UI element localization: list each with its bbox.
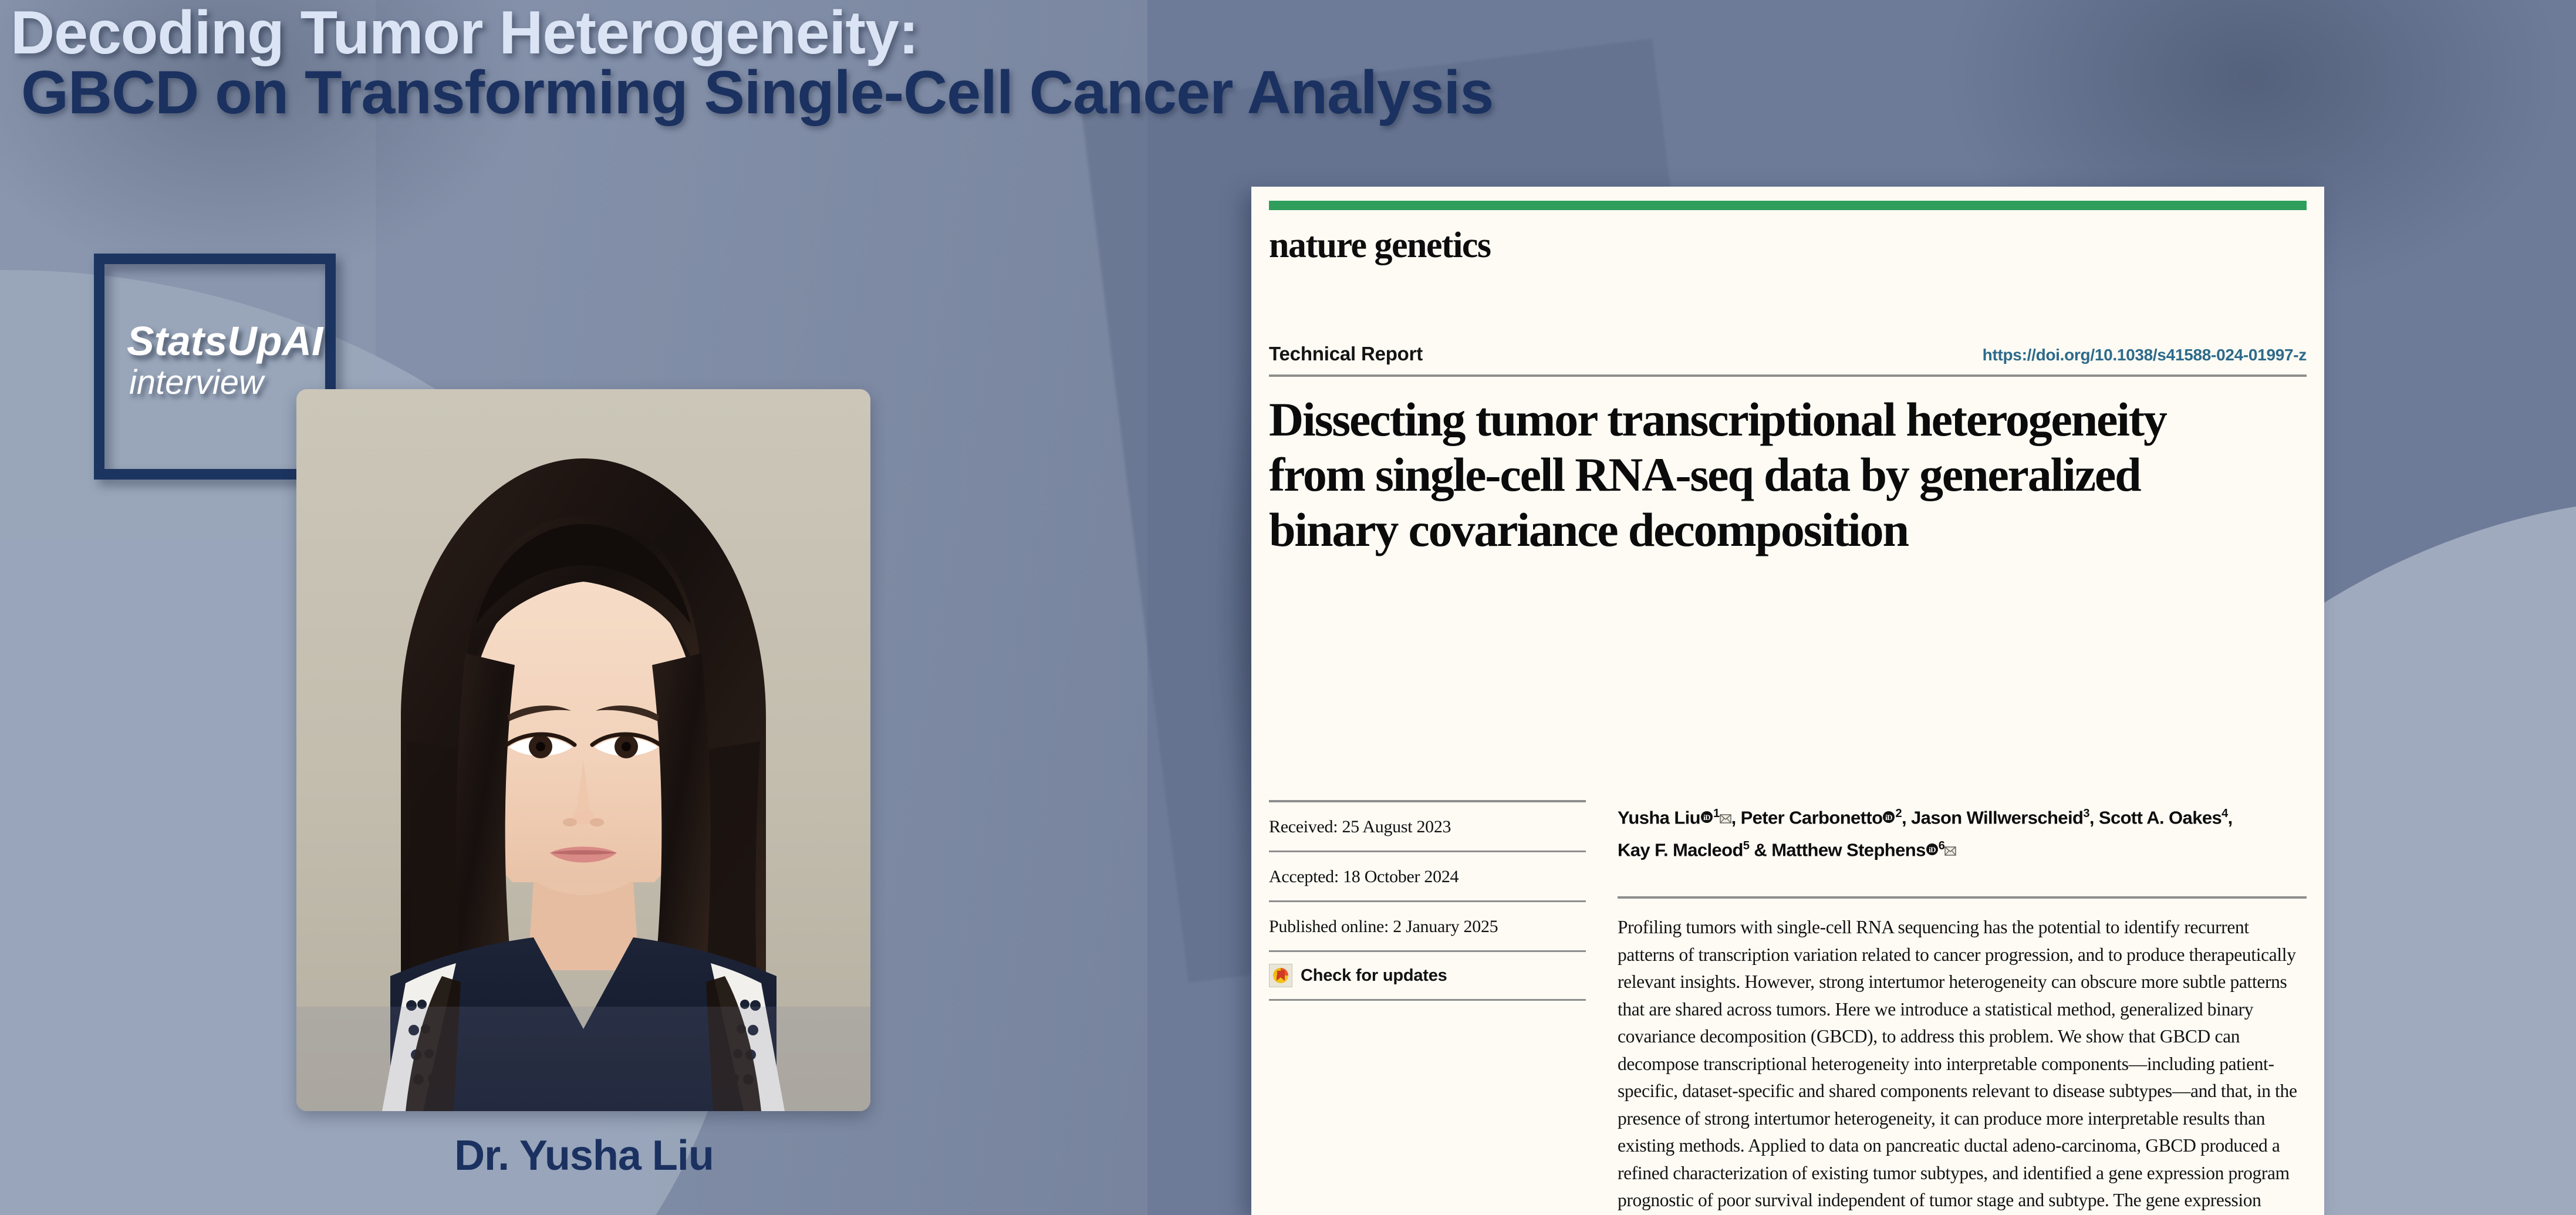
orcid-icon[interactable]: iD	[1882, 804, 1895, 831]
guest-portrait-photo	[296, 389, 870, 1111]
guest-name-caption: Dr. Yusha Liu	[296, 1132, 872, 1180]
meta-published: Published online: 2 January 2025	[1269, 902, 1586, 952]
headline-line-1: Decoding Tumor Heterogeneity:	[11, 4, 1771, 62]
meta-received: Received: 25 August 2023	[1269, 802, 1586, 852]
author-list: Yusha LiuiD1, Peter CarbonettoiD2, Jason…	[1618, 800, 2307, 865]
author-name-4: , Scott A. Oakes	[2089, 807, 2221, 828]
paper-title: Dissecting tumor transcriptional heterog…	[1269, 392, 2208, 558]
authors-abstract-column: Yusha LiuiD1, Peter CarbonettoiD2, Jason…	[1609, 800, 2307, 1215]
author-name-1: Yusha Liu	[1618, 807, 1700, 828]
svg-text:iD: iD	[1703, 813, 1710, 822]
slide-headline: Decoding Tumor Heterogeneity: GBCD on Tr…	[11, 4, 1771, 126]
paper-abstract: Profiling tumors with single-cell RNA se…	[1618, 914, 2307, 1215]
affil-sup-3: 3	[2083, 807, 2089, 820]
affil-sup-6: 6	[1939, 839, 1945, 852]
article-kicker-row: Technical Report https://doi.org/10.1038…	[1269, 343, 2307, 365]
meta-accepted: Accepted: 18 October 2024	[1269, 852, 1586, 902]
check-for-updates-button[interactable]: Check for updates	[1269, 952, 1586, 1001]
crossmark-icon	[1269, 964, 1292, 987]
journal-title: nature genetics	[1269, 224, 2307, 266]
orcid-icon[interactable]: iD	[1700, 804, 1713, 831]
affil-sup-5: 5	[1743, 839, 1750, 852]
paper-header-block: nature genetics Technical Report https:/…	[1269, 201, 2307, 558]
journal-paper-panel: nature genetics Technical Report https:/…	[1251, 187, 2324, 1215]
author-name-2: , Peter Carbonetto	[1731, 807, 1883, 828]
slide-canvas: Decoding Tumor Heterogeneity: GBCD on Tr…	[0, 0, 2576, 1215]
email-icon[interactable]	[1944, 836, 1956, 863]
affil-sup-2: 2	[1895, 807, 1902, 820]
doi-link[interactable]: https://doi.org/10.1038/s41588-024-01997…	[1983, 346, 2307, 365]
affil-sup-1: 1	[1713, 807, 1720, 820]
check-for-updates-label: Check for updates	[1301, 966, 1447, 986]
affil-sup-4: 4	[2221, 807, 2228, 820]
logo-brand-name: StatsUpAI	[127, 319, 408, 363]
svg-text:iD: iD	[1929, 845, 1936, 854]
abstract-divider	[1618, 896, 2307, 899]
article-type-label: Technical Report	[1269, 343, 1423, 365]
journal-green-rule	[1269, 201, 2307, 210]
header-divider	[1269, 374, 2307, 377]
portrait-illustration	[296, 389, 870, 1111]
author-name-3: , Jason Willwerscheid	[1902, 807, 2083, 828]
paper-meta-and-abstract: Received: 25 August 2023 Accepted: 18 Oc…	[1269, 800, 2307, 1215]
svg-text:iD: iD	[1886, 813, 1893, 822]
author-name-6: & Matthew Stephens	[1749, 839, 1925, 860]
publication-meta-column: Received: 25 August 2023 Accepted: 18 Oc…	[1269, 800, 1609, 1215]
author-name-5: Kay F. Macleod	[1618, 839, 1743, 860]
email-icon[interactable]	[1720, 804, 1731, 831]
headline-line-2: GBCD on Transforming Single-Cell Cancer …	[11, 60, 1771, 126]
orcid-icon[interactable]: iD	[1926, 836, 1939, 863]
